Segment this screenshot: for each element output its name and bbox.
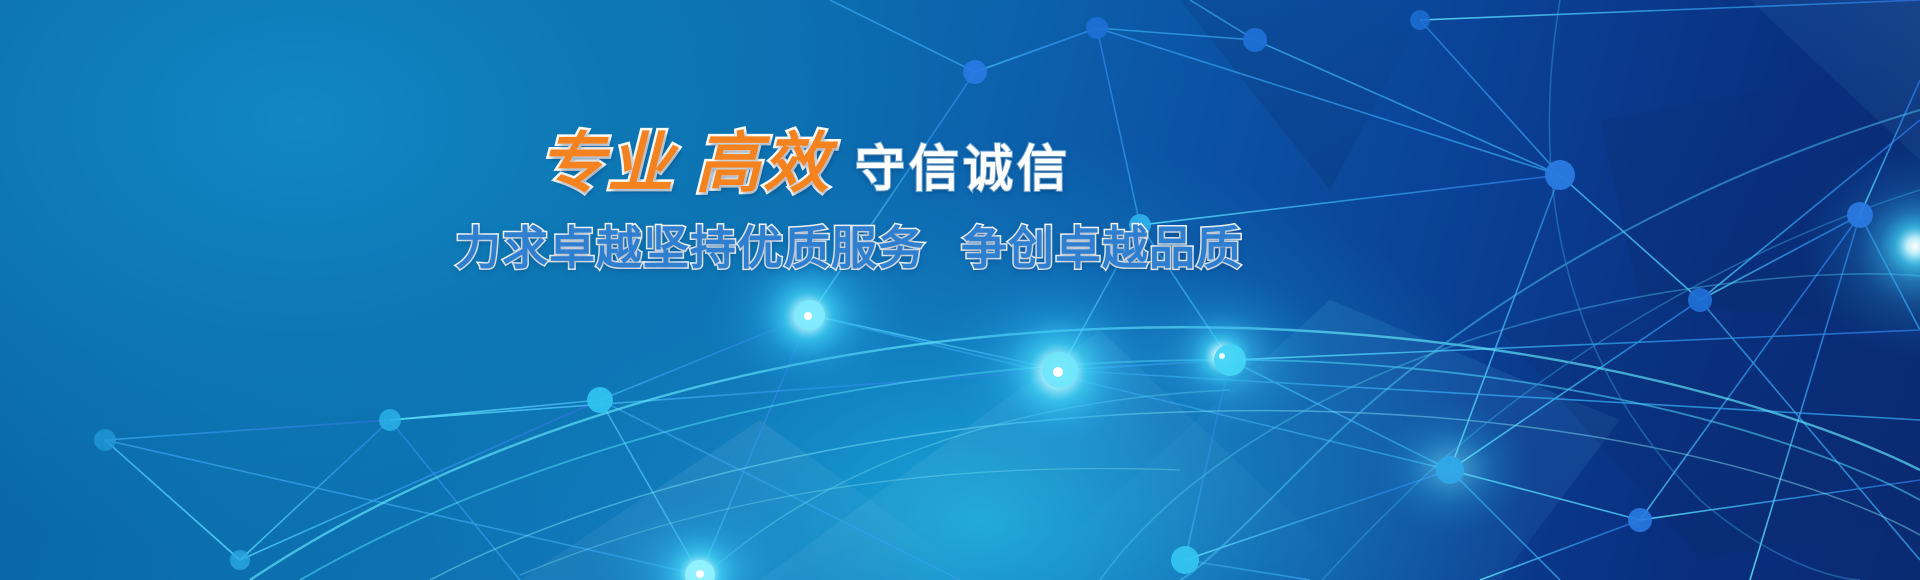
- tagline-part-1: 力求卓越坚持优质服务: [455, 221, 925, 275]
- banner-tagline: 力求卓越坚持优质服务 争创卓越品质: [455, 212, 1155, 278]
- tagline-part-2: 争创卓越品质: [961, 221, 1243, 275]
- headline-keyword-2: 高效: [695, 124, 831, 202]
- banner-text-block: 专业高效守信诚信 力求卓越坚持优质服务 争创卓越品质: [455, 130, 1155, 278]
- banner-headline: 专业高效守信诚信: [455, 130, 1155, 196]
- network-mesh-layer: [0, 0, 1920, 580]
- tagline-separator: [925, 221, 961, 275]
- hero-banner: 专业高效守信诚信 力求卓越坚持优质服务 争创卓越品质: [0, 0, 1920, 580]
- headline-keyword-1: 专业: [539, 124, 675, 202]
- headline-keyword-3: 守信诚信: [855, 140, 1071, 198]
